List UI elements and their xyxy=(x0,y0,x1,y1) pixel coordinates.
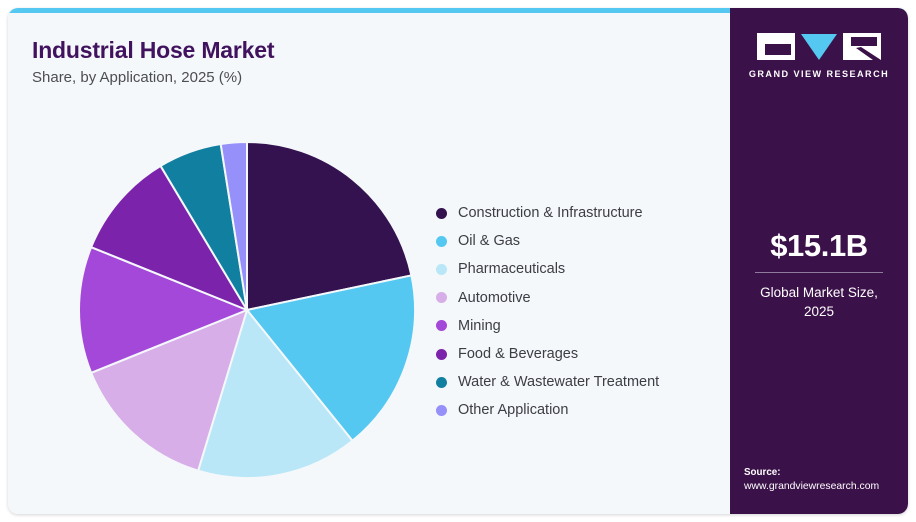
chart-legend: Construction & InfrastructureOil & GasPh… xyxy=(436,199,726,425)
legend-item[interactable]: Mining xyxy=(436,312,726,340)
legend-item-label: Other Application xyxy=(458,402,568,418)
legend-item-label: Pharmaceuticals xyxy=(458,261,565,277)
infographic-root: Industrial Hose Market Share, by Applica… xyxy=(0,0,916,522)
legend-swatch-icon xyxy=(436,349,447,360)
legend-item[interactable]: Other Application xyxy=(436,396,726,424)
market-size-caption: Global Market Size, 2025 xyxy=(730,283,908,321)
legend-swatch-icon xyxy=(436,208,447,219)
market-size-stat: $15.1B Global Market Size, 2025 xyxy=(730,230,908,321)
legend-swatch-icon xyxy=(436,264,447,275)
legend-swatch-icon xyxy=(436,320,447,331)
pie-chart xyxy=(68,128,428,493)
legend-swatch-icon xyxy=(436,236,447,247)
legend-swatch-icon xyxy=(436,377,447,388)
legend-item[interactable]: Oil & Gas xyxy=(436,227,726,255)
source-footer: Source: www.grandviewresearch.com xyxy=(744,467,908,492)
legend-swatch-icon xyxy=(436,405,447,416)
pie-chart-svg xyxy=(68,128,428,493)
legend-item-label: Water & Wastewater Treatment xyxy=(458,374,659,390)
sidebar-panel: GRAND VIEW RESEARCH $15.1B Global Market… xyxy=(730,8,908,514)
legend-item[interactable]: Pharmaceuticals xyxy=(436,255,726,283)
legend-item[interactable]: Water & Wastewater Treatment xyxy=(436,368,726,396)
legend-item[interactable]: Construction & Infrastructure xyxy=(436,199,726,227)
legend-item[interactable]: Food & Beverages xyxy=(436,340,726,368)
market-size-value: $15.1B xyxy=(730,230,908,263)
legend-item-label: Automotive xyxy=(458,290,531,306)
source-label: Source: xyxy=(744,467,908,478)
page-subtitle: Share, by Application, 2025 (%) xyxy=(32,69,242,86)
chart-pane: Industrial Hose Market Share, by Applica… xyxy=(8,13,730,514)
stat-divider xyxy=(755,272,883,273)
source-url[interactable]: www.grandviewresearch.com xyxy=(744,481,908,492)
legend-item-label: Mining xyxy=(458,318,501,334)
legend-swatch-icon xyxy=(436,292,447,303)
brand-logo: GRAND VIEW RESEARCH xyxy=(730,32,908,79)
legend-item[interactable]: Automotive xyxy=(436,284,726,312)
legend-item-label: Construction & Infrastructure xyxy=(458,205,643,221)
gvr-logo-icon xyxy=(757,32,881,62)
brand-name: GRAND VIEW RESEARCH xyxy=(730,69,908,79)
infographic-card: Industrial Hose Market Share, by Applica… xyxy=(8,8,908,514)
legend-item-label: Food & Beverages xyxy=(458,346,578,362)
legend-item-label: Oil & Gas xyxy=(458,233,520,249)
page-title: Industrial Hose Market xyxy=(32,37,274,64)
